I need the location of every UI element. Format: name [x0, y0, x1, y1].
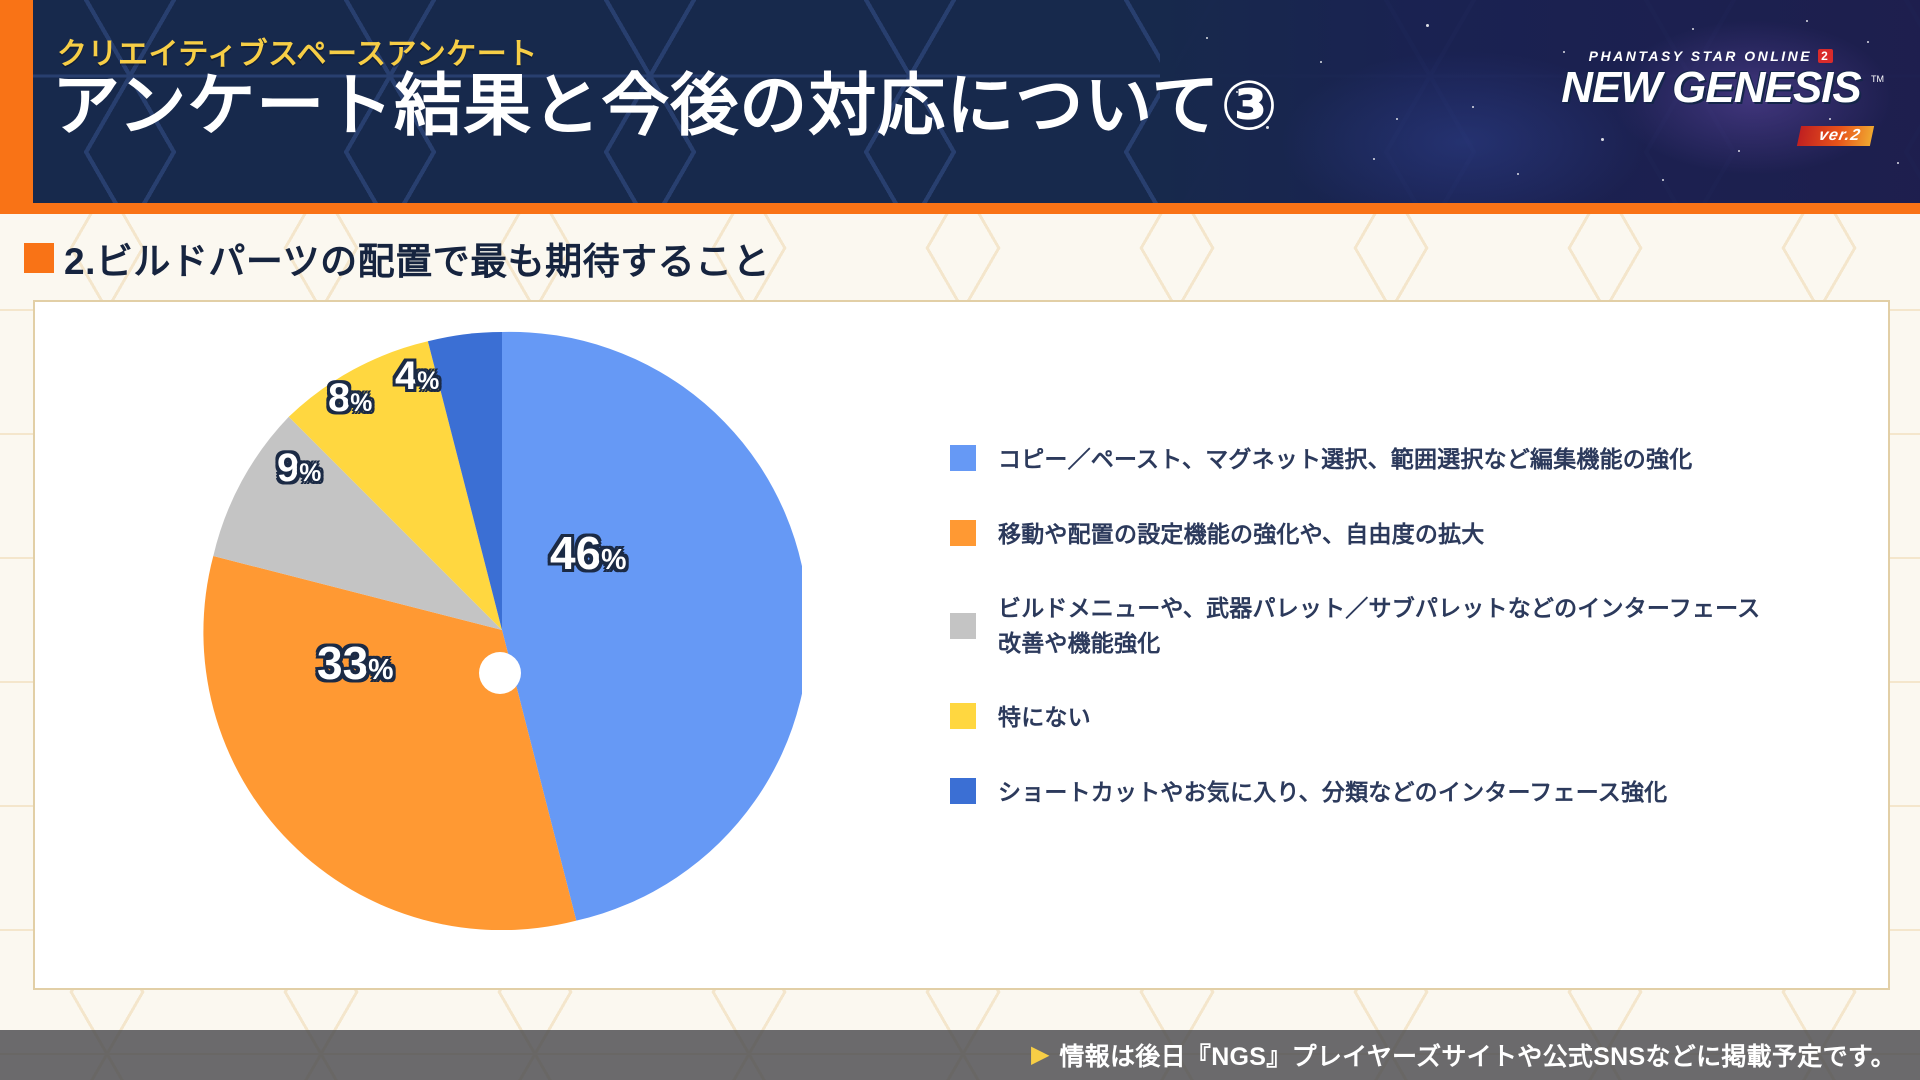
page-footer: ▶ 情報は後日『NGS』プレイヤーズサイトや公式SNSなどに掲載予定です。 — [0, 1030, 1920, 1080]
legend-item-label: ビルドメニューや、武器パレット／サブパレットなどのインターフェース — [998, 595, 1760, 621]
legend-item: ショートカットやお気に入り、分類などのインターフェース強化 — [950, 775, 1850, 810]
legend-swatch-icon — [950, 613, 976, 639]
legend-swatch-icon — [950, 445, 976, 471]
pie-label-1: 46% — [550, 530, 627, 576]
legend-swatch-icon — [950, 778, 976, 804]
legend-item: ビルドメニューや、武器パレット／サブパレットなどのインターフェース 改善や機能強… — [950, 591, 1850, 660]
logo-tagline-text: PHANTASY STAR ONLINE — [1589, 48, 1812, 64]
pie-chart: 46% 33% 9% 8% 4% — [202, 330, 802, 944]
pie-chart-svg — [202, 330, 802, 930]
pie-label-3: 9% — [277, 448, 321, 488]
footer-arrow-icon: ▶ — [1031, 1043, 1049, 1067]
page-title: アンケート結果と今後の対応について③ — [52, 72, 1279, 140]
section-heading: 2.ビルドパーツの配置で最も期待すること — [24, 231, 770, 285]
logo-badge-two: 2 — [1818, 49, 1833, 63]
legend-item-label: 移動や配置の設定機能の強化や、自由度の拡大 — [998, 517, 1485, 552]
legend-item-label: 特にない — [998, 700, 1091, 735]
logo-version-badge: ver.2 — [1796, 126, 1874, 146]
legend-item-label: ショートカットやお気に入り、分類などのインターフェース強化 — [998, 775, 1667, 810]
section-title: 2.ビルドパーツの配置で最も期待すること — [64, 231, 770, 285]
chart-legend: コピー／ペースト、マグネット選択、範囲選択など編集機能の強化 移動や配置の設定機… — [950, 442, 1850, 849]
legend-item-label: コピー／ペースト、マグネット選択、範囲選択など編集機能の強化 — [998, 442, 1692, 477]
page-header: クリエイティブスペースアンケート アンケート結果と今後の対応について③ PHAN… — [0, 0, 1920, 203]
header-accent-bar-bottom — [0, 203, 1920, 214]
logo-tagline: PHANTASY STAR ONLINE 2 — [1546, 48, 1876, 64]
pie-label-2: 33% — [317, 640, 394, 686]
pie-center-hole — [479, 652, 521, 694]
pie-label-5: 4% — [395, 356, 439, 396]
legend-item: 移動や配置の設定機能の強化や、自由度の拡大 — [950, 517, 1850, 552]
legend-item-label-block: ビルドメニューや、武器パレット／サブパレットなどのインターフェース 改善や機能強… — [998, 591, 1760, 660]
legend-item: 特にない — [950, 700, 1850, 735]
content-panel: 46% 33% 9% 8% 4% コピー／ペースト、マグネット選択、範囲選択など… — [33, 300, 1890, 990]
logo-trademark-icon: TM — [1871, 74, 1884, 84]
section-marker-icon — [24, 243, 54, 273]
header-kicker: クリエイティブスペースアンケート — [57, 29, 538, 73]
legend-swatch-icon — [950, 520, 976, 546]
legend-item: コピー／ペースト、マグネット選択、範囲選択など編集機能の強化 — [950, 442, 1850, 477]
legend-item-label-line2: 改善や機能強化 — [998, 630, 1160, 656]
footer-note: 情報は後日『NGS』プレイヤーズサイトや公式SNSなどに掲載予定です。 — [1059, 1037, 1896, 1073]
ngs-logo: PHANTASY STAR ONLINE 2 NEW GENESIS TM ve… — [1546, 48, 1876, 142]
pie-label-4: 8% — [328, 378, 372, 418]
legend-swatch-icon — [950, 703, 976, 729]
logo-wordmark: NEW GENESIS — [1546, 64, 1876, 112]
header-accent-bar-left — [0, 0, 33, 213]
